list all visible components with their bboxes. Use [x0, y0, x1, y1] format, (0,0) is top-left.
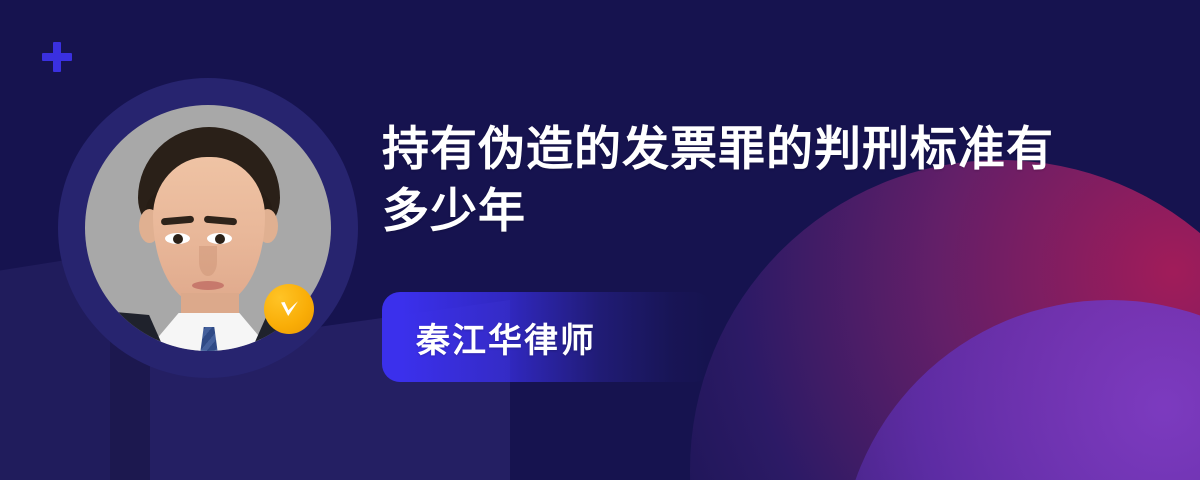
lawyer-article-banner: 持有伪造的发票罪的判刑标准有多少年 秦江华律师 — [0, 0, 1200, 480]
portrait-eye-right — [207, 233, 232, 244]
verified-badge-icon — [264, 284, 314, 334]
plus-icon-bar-vertical — [53, 42, 61, 72]
decorative-gradient-blob-purple — [840, 300, 1200, 480]
portrait-mouth — [192, 281, 224, 290]
plus-icon — [42, 42, 72, 72]
portrait-suit-left — [85, 309, 173, 351]
lawyer-name-label: 秦江华律师 — [382, 313, 596, 362]
portrait-nose — [199, 246, 217, 276]
page-title: 持有伪造的发票罪的判刑标准有多少年 — [382, 118, 1072, 242]
avatar[interactable] — [58, 78, 358, 378]
portrait-eye-left — [165, 233, 190, 244]
lawyer-name-badge[interactable]: 秦江华律师 — [382, 292, 712, 382]
headline-block: 持有伪造的发票罪的判刑标准有多少年 — [382, 118, 1122, 242]
